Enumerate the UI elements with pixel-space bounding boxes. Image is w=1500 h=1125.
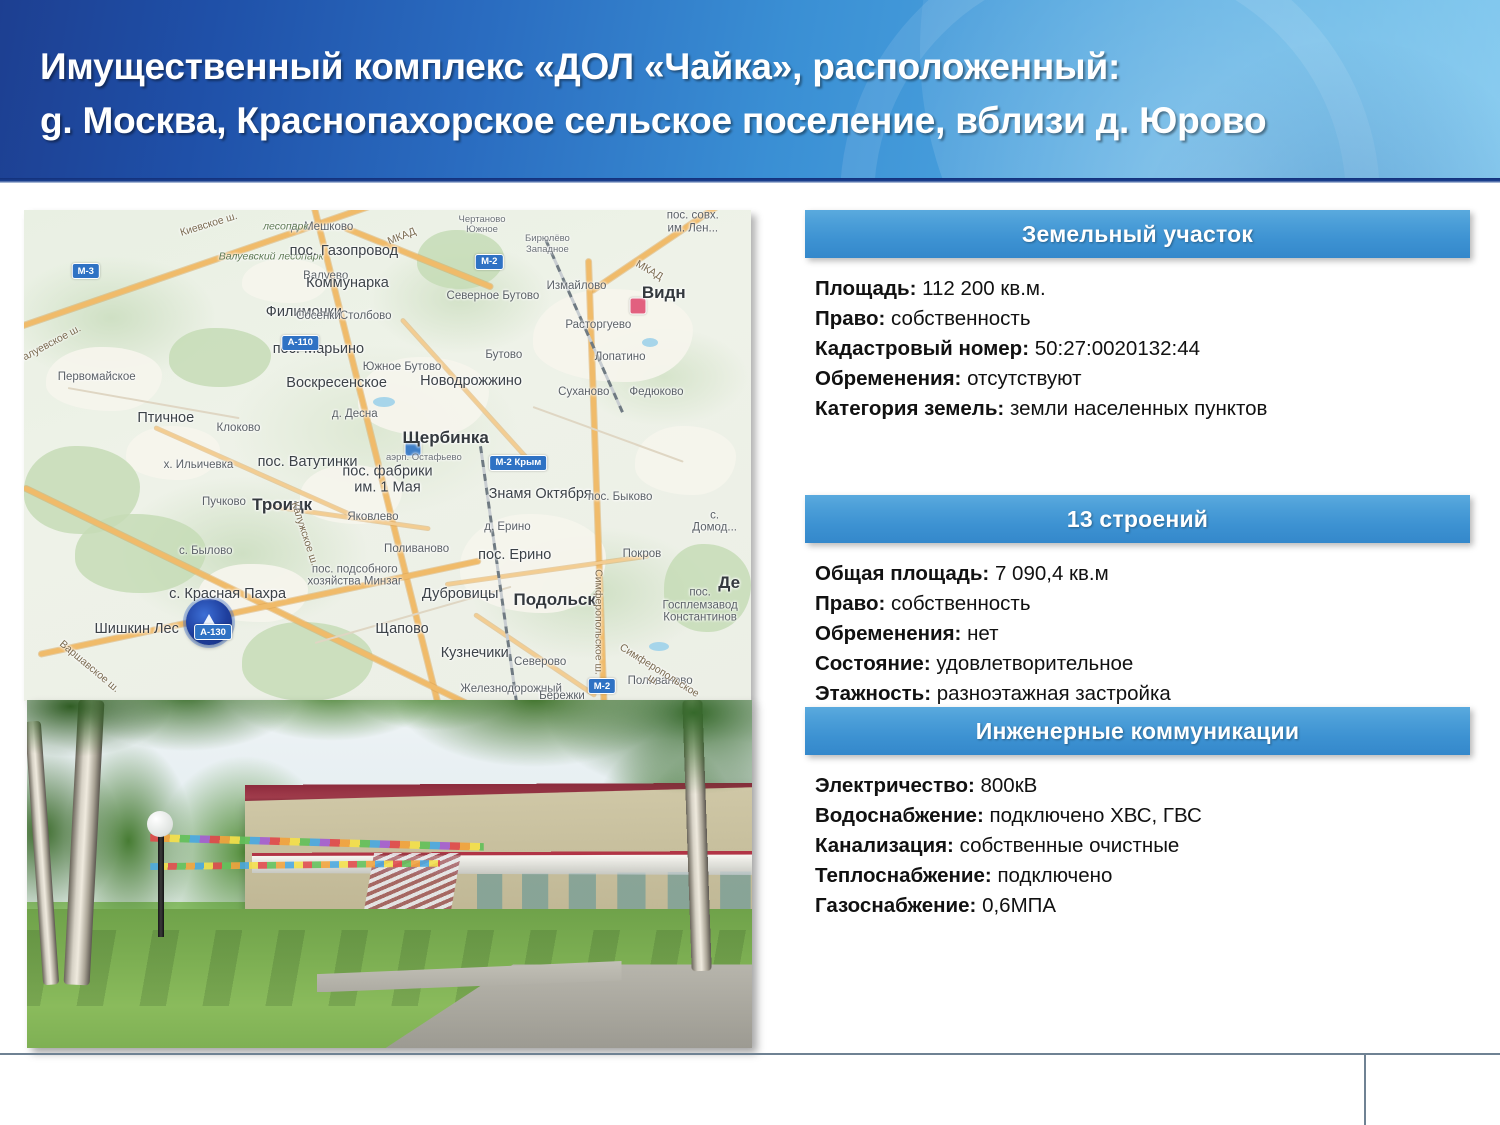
map-label: Дубровицы — [422, 588, 499, 604]
detail-value: 800кВ — [975, 774, 1038, 797]
map-label: Щапово — [375, 622, 428, 638]
detail-row: Право: собственность — [815, 589, 1470, 619]
map-label: Симферопольское ш. — [593, 570, 604, 676]
map-label: аэрп. Остафьево — [386, 453, 462, 463]
map-road-shield: А-130 — [194, 624, 232, 640]
map-road-shield: М-2 Крым — [489, 455, 547, 471]
detail-label: Теплоснабжение: — [815, 864, 992, 887]
property-photo-image[interactable] — [27, 700, 752, 1048]
map-label: Сосенки — [296, 309, 341, 321]
map-label: Де — [718, 574, 740, 592]
map-label: Северово — [514, 656, 566, 668]
map-road-shield: М-2 — [588, 678, 616, 694]
map-label: Суханово — [558, 385, 609, 397]
map-label: Первомайское — [58, 371, 136, 383]
detail-row: Электричество: 800кВ — [815, 771, 1470, 801]
map-road-shield: М-2 — [475, 254, 503, 270]
map-label: Покров — [623, 547, 662, 559]
detail-label: Кадастровый номер: — [815, 337, 1029, 360]
map-label: Щербинка — [402, 429, 488, 447]
detail-value: отсутствуют — [961, 367, 1081, 390]
map-label: пос. подсобного хозяйства Минзаг — [307, 563, 402, 588]
detail-value: удовлетворительное — [931, 652, 1134, 675]
detail-value: 7 090,4 кв.м — [989, 562, 1108, 585]
detail-row: Этажность: разноэтажная застройка — [815, 679, 1470, 709]
map-water — [373, 397, 395, 407]
detail-label: Газоснабжение: — [815, 894, 976, 917]
map-road-shield: М-3 — [72, 263, 100, 279]
map-label: пос. Ерино — [478, 548, 551, 564]
map-label: лесопарк — [263, 222, 308, 233]
map-label: пос. Быково — [588, 491, 653, 503]
card-buildings: 13 строений Общая площадь: 7 090,4 кв.м … — [805, 495, 1470, 707]
detail-row: Площадь: 112 200 кв.м. — [815, 274, 1470, 304]
card-land-plot-body: Площадь: 112 200 кв.м. Право: собственно… — [805, 258, 1470, 424]
detail-label: Электричество: — [815, 774, 975, 797]
detail-label: Обременения: — [815, 622, 961, 645]
detail-value: 0,6МПА — [976, 894, 1056, 917]
map-label: Птичное — [137, 411, 194, 427]
detail-label: Площадь: — [815, 277, 916, 300]
map-label: Южное Бутово — [363, 361, 442, 373]
map-label: д. Ерино — [484, 520, 530, 532]
detail-value: подключено ХВС, ГВС — [984, 804, 1202, 827]
map-label: Воскресенское — [286, 376, 387, 392]
card-land-plot-header: Земельный участок — [805, 210, 1470, 258]
detail-row: Водоснабжение: подключено ХВС, ГВС — [815, 801, 1470, 831]
map-label: Расторгуево — [565, 319, 631, 331]
map-label: Поливаново — [384, 543, 449, 555]
card-utilities-header: Инженерные коммуникации — [805, 707, 1470, 755]
map-label: Новодрожжино — [420, 374, 522, 390]
map-label: Пучково — [202, 496, 246, 508]
map-forest — [169, 328, 271, 387]
detail-label: Право: — [815, 592, 885, 615]
map-label: Столбово — [340, 309, 392, 321]
map-field — [635, 426, 737, 495]
card-utilities-title: Инженерные коммуникации — [976, 718, 1300, 745]
footer-horizontal-rule — [0, 1053, 1500, 1055]
map-label: Клоково — [217, 422, 261, 434]
map-label: Коммунарка — [306, 276, 389, 292]
map-label: х. Ильичевка — [164, 459, 234, 471]
map-label: пос. совх. им. Лен... — [667, 210, 719, 235]
map-label: Бутово — [485, 349, 522, 361]
map-canvas: д. МешковоКиевское ш.Валуевский лесопарк… — [24, 210, 751, 701]
detail-row: Обременения: отсутствуют — [815, 364, 1470, 394]
detail-value: собственность — [885, 592, 1030, 615]
map-label: Яковлево — [347, 511, 398, 523]
map-label: Измайлово — [547, 280, 607, 292]
map-label: с. Былово — [179, 545, 233, 557]
map-label: Шишкин Лес — [95, 622, 179, 638]
detail-value: нет — [961, 622, 998, 645]
map-label: пос. Газопровод — [290, 244, 398, 260]
property-details-panel: Земельный участок Площадь: 112 200 кв.м.… — [805, 210, 1470, 919]
map-label: Федюково — [629, 385, 683, 397]
detail-value: земли населенных пунктов — [1004, 397, 1267, 420]
map-label: с. Домод... — [692, 509, 737, 534]
detail-label: Право: — [815, 307, 885, 330]
detail-value: 112 200 кв.м. — [916, 277, 1045, 300]
detail-row: Газоснабжение: 0,6МПА — [815, 891, 1470, 921]
detail-label: Категория земель: — [815, 397, 1004, 420]
map-label: Кузнечики — [441, 647, 509, 663]
detail-row: Состояние: удовлетворительное — [815, 649, 1470, 679]
card-land-plot-title: Земельный участок — [1022, 221, 1253, 248]
map-label: Северное Бутово — [447, 290, 540, 302]
map-label: Лопатино — [595, 351, 646, 363]
photo-tree-canopy — [27, 700, 752, 860]
header-bottom-rule — [0, 178, 1500, 183]
card-buildings-body: Общая площадь: 7 090,4 кв.м Право: собст… — [805, 543, 1470, 709]
detail-row: Категория земель: земли населенных пункт… — [815, 394, 1470, 424]
detail-label: Общая площадь: — [815, 562, 989, 585]
map-forest — [242, 622, 373, 701]
card-utilities: Инженерные коммуникации Электричество: 8… — [805, 707, 1470, 919]
location-map-image[interactable]: д. МешковоКиевское ш.Валуевский лесопарк… — [24, 210, 751, 701]
detail-label: Этажность: — [815, 682, 931, 705]
detail-row: Право: собственность — [815, 304, 1470, 334]
card-buildings-header: 13 строений — [805, 495, 1470, 543]
map-label: Бирюлёво Западное — [525, 234, 570, 255]
detail-label: Обременения: — [815, 367, 961, 390]
map-label: Знамя Октября — [489, 487, 592, 503]
detail-row: Общая площадь: 7 090,4 кв.м — [815, 559, 1470, 589]
detail-value: разноэтажная застройка — [931, 682, 1171, 705]
footer-vertical-rule — [1364, 1053, 1366, 1125]
card-buildings-title: 13 строений — [1067, 506, 1208, 533]
detail-value: собственность — [885, 307, 1030, 330]
map-label: с. Красная Пахра — [169, 588, 286, 604]
map-road-shield: А-110 — [282, 335, 319, 351]
map-label: Подольск — [514, 591, 596, 609]
detail-row: Теплоснабжение: подключено — [815, 861, 1470, 891]
detail-value: 50:27:0020132:44 — [1029, 337, 1200, 360]
card-utilities-body: Электричество: 800кВ Водоснабжение: подк… — [805, 755, 1470, 921]
card-land-plot: Земельный участок Площадь: 112 200 кв.м.… — [805, 210, 1470, 495]
detail-label: Водоснабжение: — [815, 804, 984, 827]
map-label: пос. фабрики им. 1 Мая — [342, 464, 432, 495]
detail-row: Обременения: нет — [815, 619, 1470, 649]
detail-value: подключено — [992, 864, 1113, 887]
detail-label: Состояние: — [815, 652, 931, 675]
page-title: Имущественный комплекс «ДОЛ «Чайка», рас… — [40, 40, 1460, 148]
map-water — [642, 338, 658, 347]
map-label: д. Десна — [332, 408, 378, 420]
detail-value: собственные очистные — [954, 834, 1179, 857]
map-label: Видн — [642, 284, 686, 302]
detail-row: Канализация: собственные очистные — [815, 831, 1470, 861]
map-label: Чертаново Южное — [459, 214, 506, 235]
detail-row: Кадастровый номер: 50:27:0020132:44 — [815, 334, 1470, 364]
detail-label: Канализация: — [815, 834, 954, 857]
